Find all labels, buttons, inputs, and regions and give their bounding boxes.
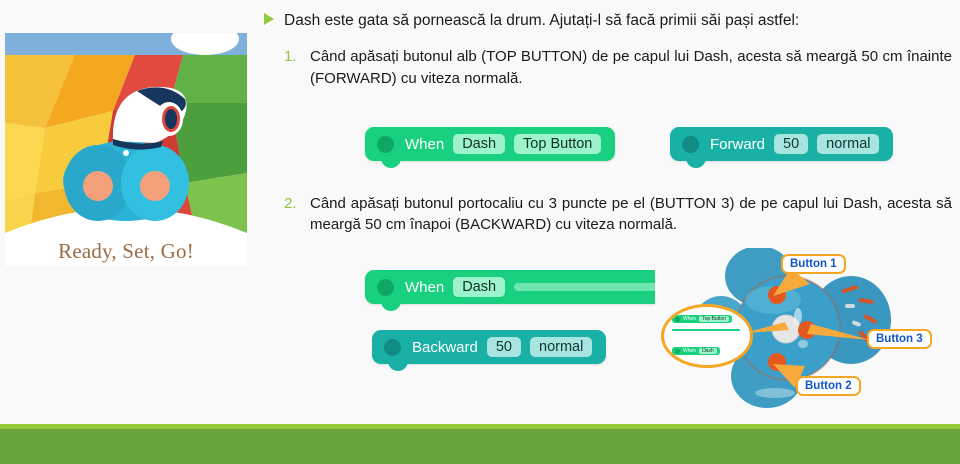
block-slot-speed[interactable]: normal xyxy=(530,337,592,357)
card-caption: Ready, Set, Go! xyxy=(5,239,247,264)
block-slot-event[interactable]: Top Button xyxy=(514,134,601,154)
block-connector-dot xyxy=(682,136,699,153)
step-text: Când apăsați butonul portocaliu cu 3 pun… xyxy=(310,195,952,233)
callout-button-1: Button 1 xyxy=(781,254,846,274)
block-when-dash-empty[interactable]: When Dash xyxy=(365,270,692,304)
mini-block-blank xyxy=(672,329,740,331)
step-number: 1. xyxy=(284,46,297,67)
block-keyword: Forward xyxy=(710,136,765,153)
block-slot-event-empty[interactable] xyxy=(514,283,678,291)
mini-keyword: When xyxy=(683,316,696,322)
block-slot-speed[interactable]: normal xyxy=(817,134,879,154)
steps-list: 1. Când apăsați butonul alb (TOP BUTTON)… xyxy=(262,46,956,89)
list-item: 2. Când apăsați butonul portocaliu cu 3 … xyxy=(262,193,956,236)
mini-block-when-dash: When Dash xyxy=(672,347,720,355)
arrow-bullet-icon xyxy=(264,13,274,25)
dash-robot-illustration xyxy=(5,33,247,266)
mini-slot: Dash xyxy=(699,348,717,354)
block-slot-distance[interactable]: 50 xyxy=(774,134,808,154)
footer-band-dark xyxy=(0,429,960,464)
mini-connector-dot xyxy=(675,317,680,322)
ready-set-go-card: Ready, Set, Go! xyxy=(5,33,247,266)
step-number: 2. xyxy=(284,193,297,214)
block-connector-dot xyxy=(384,339,401,356)
dash-buttons-diagram: Button 1 Button 2 Button 3 When Top Butt… xyxy=(655,248,955,410)
inset-code-oval: When Top Button When Dash xyxy=(661,304,753,368)
step-text: Când apăsați butonul alb (TOP BUTTON) de… xyxy=(310,48,952,86)
list-item: 1. Când apăsați butonul alb (TOP BUTTON)… xyxy=(262,46,956,89)
slide-root: Ready, Set, Go! Dash este gata să pornea… xyxy=(0,0,960,464)
lead-paragraph: Dash este gata să pornească la drum. Aju… xyxy=(262,10,950,32)
steps-list-2: 2. Când apăsați butonul portocaliu cu 3 … xyxy=(262,193,956,236)
block-slot-robot[interactable]: Dash xyxy=(453,277,505,297)
block-connector-dot xyxy=(377,279,394,296)
block-keyword: When xyxy=(405,279,444,296)
lead-text: Dash este gata să pornească la drum. Aju… xyxy=(284,12,799,29)
mini-connector-dot xyxy=(675,349,680,354)
block-keyword: When xyxy=(405,136,444,153)
block-slot-distance[interactable]: 50 xyxy=(487,337,521,357)
block-backward[interactable]: Backward 50 normal xyxy=(372,330,606,364)
block-keyword: Backward xyxy=(412,339,478,356)
callout-button-2: Button 2 xyxy=(796,376,861,396)
mini-block-when-top-button: When Top Button xyxy=(672,315,732,323)
block-slot-robot[interactable]: Dash xyxy=(453,134,505,154)
mini-slot: Top Button xyxy=(699,316,729,322)
block-when-dash-top-button[interactable]: When Dash Top Button xyxy=(365,127,615,161)
block-forward[interactable]: Forward 50 normal xyxy=(670,127,893,161)
mini-keyword: When xyxy=(683,348,696,354)
block-connector-dot xyxy=(377,136,394,153)
callout-button-3: Button 3 xyxy=(867,329,932,349)
